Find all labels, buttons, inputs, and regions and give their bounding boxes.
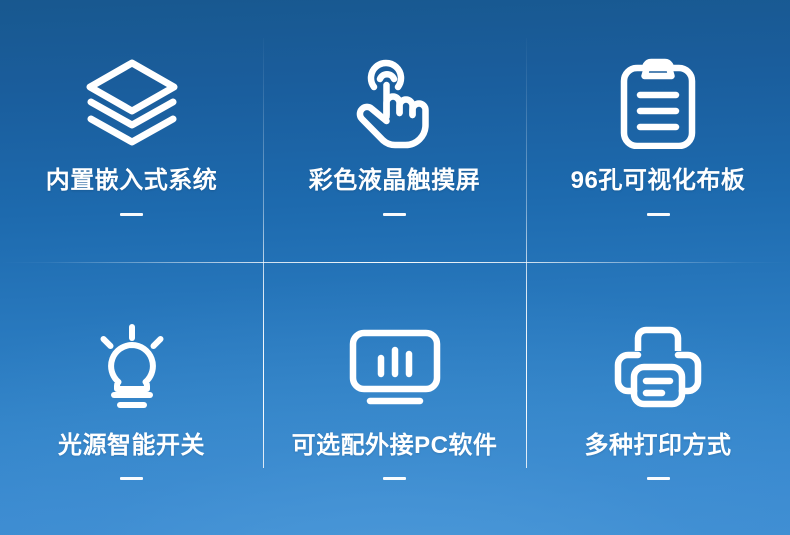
layers-stack-icon — [84, 57, 180, 149]
feature-item-96-well-visual-plate[interactable]: 96孔可视化布板 — [526, 0, 790, 267]
label-underline — [120, 213, 143, 216]
label-underline — [383, 213, 406, 216]
feature-item-optional-pc-software[interactable]: 可选配外接PC软件 — [263, 267, 526, 535]
feature-grid: 内置嵌入式系统 彩色液晶触摸屏 — [0, 0, 790, 535]
touch-hand-icon — [350, 57, 440, 149]
feature-label: 彩色液晶触摸屏 — [309, 167, 481, 195]
feature-label: 内置嵌入式系统 — [46, 167, 218, 195]
feature-label: 96孔可视化布板 — [571, 167, 746, 195]
printer-icon — [614, 324, 702, 410]
feature-banner: 内置嵌入式系统 彩色液晶触摸屏 — [0, 0, 790, 535]
feature-item-multiple-print-methods[interactable]: 多种打印方式 — [526, 267, 790, 535]
feature-item-embedded-system[interactable]: 内置嵌入式系统 — [0, 0, 263, 267]
feature-label: 可选配外接PC软件 — [292, 432, 498, 460]
label-underline — [647, 213, 670, 216]
feature-item-color-lcd-touchscreen[interactable]: 彩色液晶触摸屏 — [263, 0, 526, 267]
clipboard-icon — [619, 57, 697, 149]
feature-item-light-source-smart-switch[interactable]: 光源智能开关 — [0, 267, 263, 535]
monitor-bar-chart-icon — [348, 324, 442, 410]
feature-label: 光源智能开关 — [58, 432, 205, 460]
feature-label: 多种打印方式 — [585, 432, 732, 460]
lightbulb-icon — [89, 324, 175, 410]
label-underline — [647, 477, 670, 480]
label-underline — [383, 477, 406, 480]
label-underline — [120, 477, 143, 480]
